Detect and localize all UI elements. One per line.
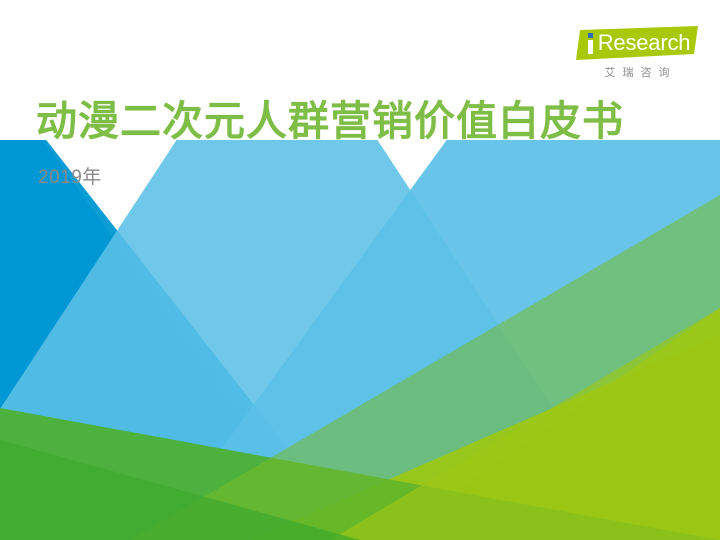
report-cover-page: Research 艾瑞咨询 动漫二次元人群营销价值白皮书 2019年 <box>0 0 720 540</box>
logo-wordmark: Research <box>576 26 698 60</box>
page-title: 动漫二次元人群营销价值白皮书 <box>36 98 624 145</box>
cover-artwork <box>0 140 720 540</box>
logo-chinese-name: 艾瑞咨询 <box>576 64 698 80</box>
logo-i-dot-icon <box>588 33 593 38</box>
iresearch-logo: Research 艾瑞咨询 <box>576 26 698 88</box>
logo-i-stem-icon <box>588 40 593 54</box>
page-subtitle-year: 2019年 <box>38 162 102 189</box>
